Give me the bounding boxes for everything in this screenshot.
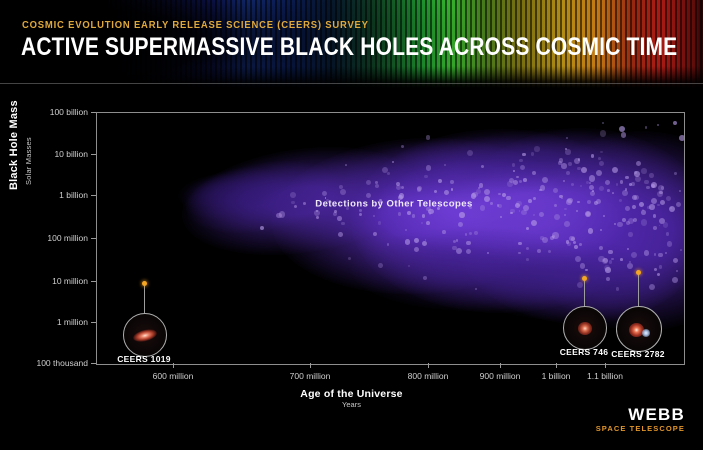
webb-logo-wordmark: WEBB: [596, 406, 685, 423]
galaxy-thumbnail[interactable]: [616, 306, 662, 352]
page-title: ACTIVE SUPERMASSIVE BLACK HOLES ACROSS C…: [21, 33, 677, 62]
galaxy-companion: [642, 329, 651, 337]
other-telescopes-label: Detections by Other Telescopes: [315, 199, 472, 210]
callout-leader-line: [638, 274, 639, 308]
webb-logo-tagline: SPACE TELESCOPE: [596, 424, 685, 434]
survey-eyebrow: COSMIC EVOLUTION EARLY RELEASE SCIENCE (…: [22, 19, 369, 31]
infographic-root: COSMIC EVOLUTION EARLY RELEASE SCIENCE (…: [0, 0, 703, 450]
ceers-callout[interactable]: CEERS 2782: [0, 0, 703, 450]
ceers-point-label: CEERS 2782: [578, 349, 698, 359]
ceers-data-point[interactable]: [636, 270, 641, 275]
webb-logo: WEBB SPACE TELESCOPE: [596, 406, 685, 434]
